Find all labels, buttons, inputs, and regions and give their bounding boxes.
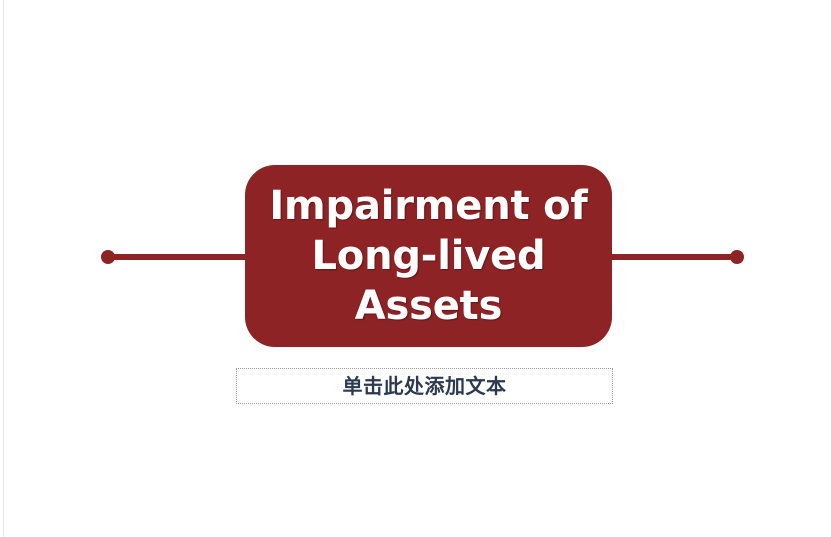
subtitle-placeholder-text[interactable]: 单击此处添加文本: [343, 374, 507, 398]
slide-canvas: Impairment of Long-lived Assets 单击此处添加文本: [0, 0, 831, 537]
title-node-shape[interactable]: Impairment of Long-lived Assets: [245, 165, 612, 347]
slide-left-edge-rule: [3, 0, 4, 537]
title-node-text[interactable]: Impairment of Long-lived Assets: [255, 181, 601, 331]
connector-line-left[interactable]: [108, 254, 248, 260]
subtitle-placeholder-box[interactable]: 单击此处添加文本: [236, 368, 613, 404]
connector-line-right[interactable]: [610, 254, 739, 260]
connector-endpoint-dot-right-icon[interactable]: [730, 250, 744, 264]
